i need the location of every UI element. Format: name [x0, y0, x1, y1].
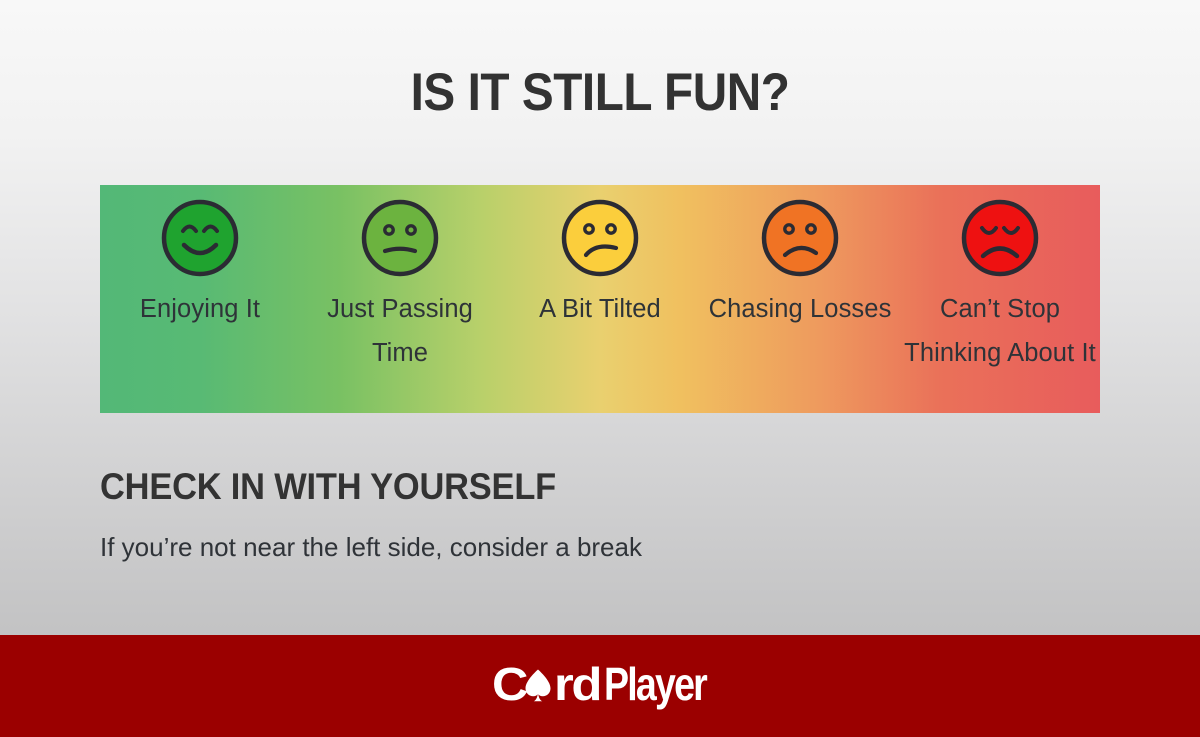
mood-label: Chasing Losses [700, 287, 900, 331]
logo-word-player: Player [604, 660, 708, 710]
page-title: IS IT STILL FUN? [60, 62, 1140, 123]
sad-face-icon [760, 198, 840, 278]
section-heading: CHECK IN WITH YOURSELF [100, 466, 556, 508]
mood-label: Enjoying It [100, 287, 300, 331]
neutral-face-icon [360, 198, 440, 278]
mood-item-enjoying-it[interactable]: Enjoying It [100, 185, 300, 413]
mood-item-just-passing-time[interactable]: Just Passing Time [300, 185, 500, 413]
mood-label: A Bit Tilted [500, 287, 700, 331]
slightly-sad-face-icon [560, 198, 640, 278]
happy-face-icon [160, 198, 240, 278]
infographic-canvas: IS IT STILL FUN? Enjoying It [0, 0, 1200, 737]
mood-item-a-bit-tilted[interactable]: A Bit Tilted [500, 185, 700, 413]
mood-label: Can’t Stop Thinking About It [900, 287, 1100, 375]
very-sad-face-icon [960, 198, 1040, 278]
logo-letter-c: C [492, 660, 527, 710]
cardplayer-logo[interactable]: C rd Player [492, 660, 708, 712]
mood-scale-bar: Enjoying It Just Passing Time [100, 185, 1100, 413]
mood-item-cant-stop-thinking[interactable]: Can’t Stop Thinking About It [900, 185, 1100, 413]
logo-letters-rd: rd [554, 660, 600, 710]
section-subtext: If you’re not near the left side, consid… [100, 532, 642, 563]
mood-label: Just Passing Time [300, 287, 500, 375]
spade-icon [526, 670, 551, 702]
mood-item-chasing-losses[interactable]: Chasing Losses [700, 185, 900, 413]
footer-bar: C rd Player [0, 635, 1200, 737]
